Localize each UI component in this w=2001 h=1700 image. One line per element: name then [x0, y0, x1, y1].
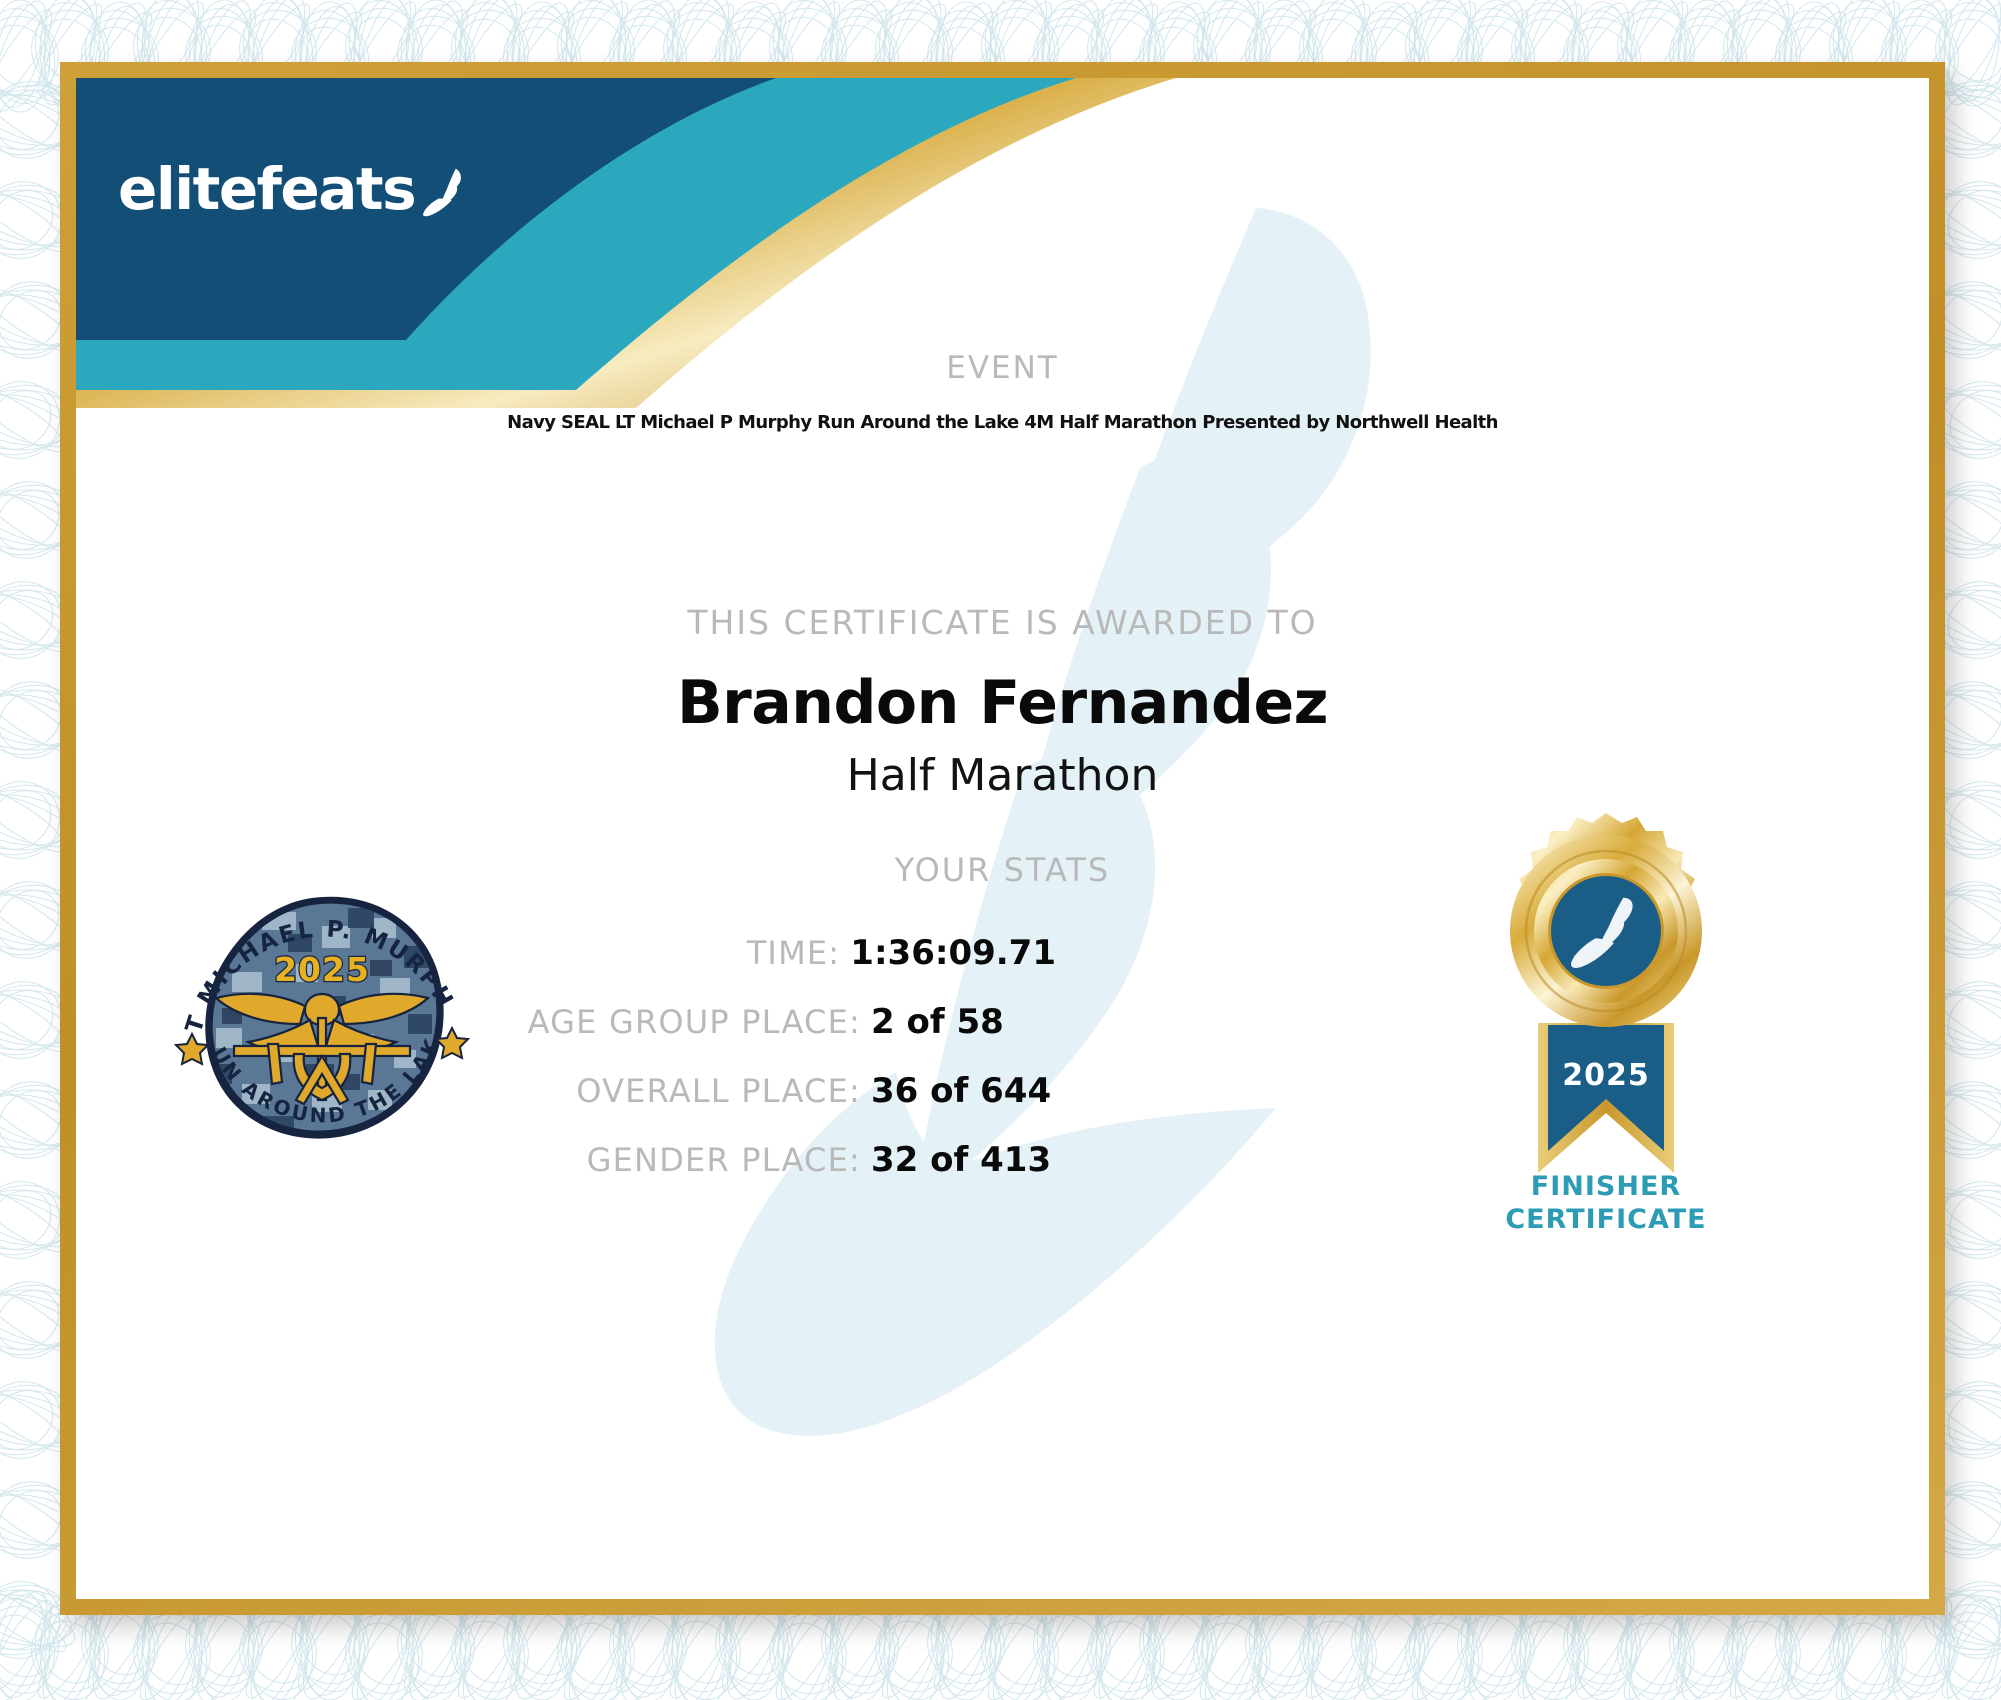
stat-value: 32 of 413 — [871, 1140, 1056, 1180]
stat-row-gender-place: GENDER PLACE: 32 of 413 — [396, 1140, 1056, 1200]
race-event-logo: LT MICHAEL P. MURPHY RUN AROUND THE LAKE… — [172, 868, 472, 1168]
event-title: Navy SEAL LT Michael P Murphy Run Around… — [76, 412, 1929, 433]
stat-row-age-group-place: AGE GROUP PLACE: 2 of 58 — [396, 1002, 1056, 1062]
recipient-name: Brandon Fernandez — [76, 668, 1929, 738]
certificate-page: elitefeats EVENT Navy SEAL LT Michael P … — [0, 0, 2001, 1700]
stat-key: GENDER PLACE: — [587, 1141, 861, 1179]
stat-key: AGE GROUP PLACE: — [528, 1003, 861, 1041]
stat-key: TIME: — [747, 934, 841, 972]
stat-value: 2 of 58 — [871, 1002, 1056, 1042]
finisher-caption-line-1: FINISHER — [1416, 1171, 1796, 1204]
header-swoosh-graphic — [76, 78, 1929, 408]
stat-row-time: TIME: 1:36:09.71 — [396, 933, 1056, 993]
certificate-inner-card: elitefeats EVENT Navy SEAL LT Michael P … — [76, 78, 1929, 1599]
stat-key: OVERALL PLACE: — [576, 1072, 861, 1110]
race-logo-year: 2025 — [274, 950, 370, 989]
awarded-to-label: THIS CERTIFICATE IS AWARDED TO — [76, 603, 1929, 642]
elitefeats-logo: elitefeats — [118, 146, 468, 231]
finisher-award-ribbon: 2025 — [1466, 813, 1746, 1233]
finisher-ribbon-year: 2025 — [1562, 1058, 1650, 1093]
stat-value: 1:36:09.71 — [850, 933, 1056, 973]
winged-foot-icon — [421, 161, 468, 223]
event-division: Half Marathon — [76, 750, 1929, 801]
stat-row-overall-place: OVERALL PLACE: 36 of 644 — [396, 1071, 1056, 1131]
finisher-caption-line-2: CERTIFICATE — [1416, 1204, 1796, 1237]
finisher-certificate-caption: FINISHER CERTIFICATE — [1416, 1171, 1796, 1237]
star-left-icon — [176, 1034, 208, 1064]
certificate-gold-frame: elitefeats EVENT Navy SEAL LT Michael P … — [60, 62, 1945, 1615]
stats-table: TIME: 1:36:09.71 AGE GROUP PLACE: 2 of 5… — [396, 933, 1056, 1209]
stat-value: 36 of 644 — [871, 1071, 1056, 1111]
elitefeats-wordmark: elitefeats — [118, 160, 415, 218]
